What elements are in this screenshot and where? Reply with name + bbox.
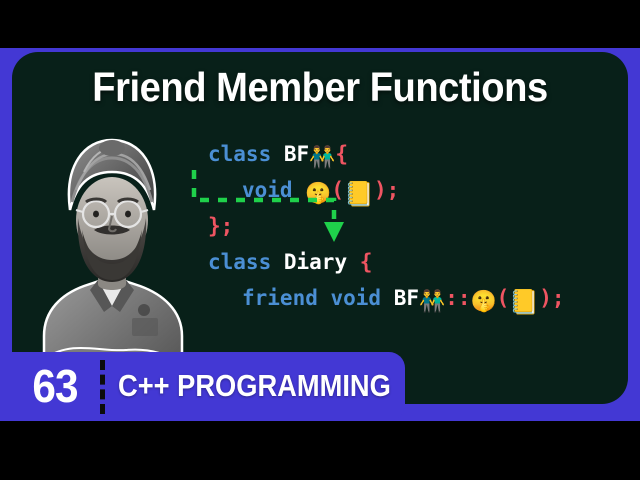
ledger-notebook-emoji: 📒 (344, 180, 374, 208)
episode-number: 63 (21, 359, 89, 413)
episode-badge: 63 C++ PROGRAMMING (0, 352, 405, 421)
code-token-id: BF (394, 286, 419, 310)
code-token-pn: ( (331, 178, 344, 202)
code-token-kw: friend void (242, 286, 381, 310)
page-title: Friend Member Functions (34, 64, 607, 111)
line-friend-decl: friend void BF👬::🤫(📒); (208, 280, 628, 316)
ledger-notebook-emoji: 📒 (509, 288, 539, 316)
code-token-kw: class (208, 142, 271, 166)
line-class-diary: class Diary { (208, 244, 628, 280)
two-men-holding-hands-emoji: 👬 (309, 145, 335, 169)
code-token-kw: void (242, 178, 293, 202)
line-class-bf: class BF👬{ (208, 136, 628, 172)
code-token-pn: }; (208, 214, 233, 238)
code-token-id: BF (284, 142, 309, 166)
code-token-pn: { (335, 142, 348, 166)
line-close-bf: }; (208, 208, 628, 244)
code-token-kw: class (208, 250, 271, 274)
code-token-id: Diary (284, 250, 347, 274)
badge-divider (100, 360, 105, 414)
code-space (293, 178, 306, 202)
code-space (271, 250, 284, 274)
code-space (381, 286, 394, 310)
code-token-pn: :: (445, 286, 470, 310)
shushing-face-emoji: 🤫 (470, 289, 496, 313)
code-space (347, 250, 360, 274)
code-token-pn: { (360, 250, 373, 274)
code-token-pn: ( (497, 286, 510, 310)
shushing-face-emoji: 🤫 (305, 181, 331, 205)
code-space (271, 142, 284, 166)
code-token-pn: ); (374, 178, 399, 202)
line-void-shush: void 🤫(📒); (208, 172, 628, 208)
course-label: C++ PROGRAMMING (118, 366, 391, 406)
code-block: class BF👬{void 🤫(📒);};class Diary {frien… (208, 136, 628, 316)
code-token-pn: ); (539, 286, 564, 310)
video-thumbnail: Friend Member Functions (0, 0, 640, 480)
two-men-holding-hands-emoji: 👬 (419, 289, 445, 313)
